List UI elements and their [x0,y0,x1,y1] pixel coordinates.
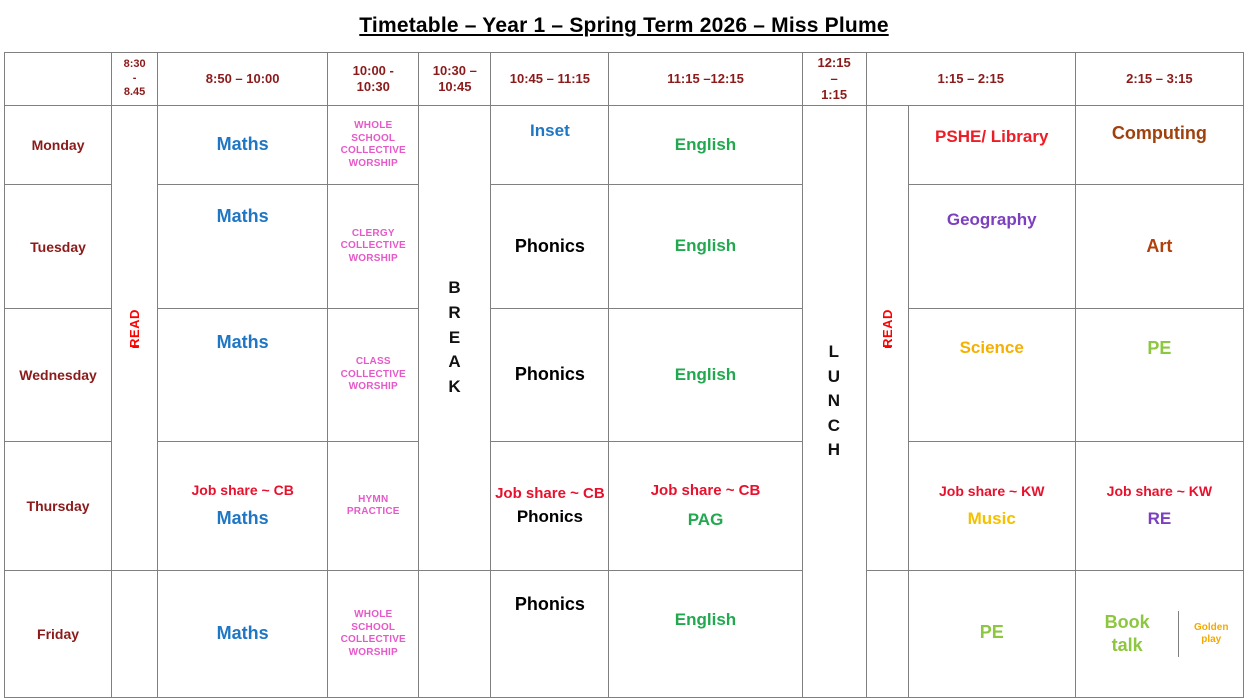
read-label: READ [880,309,895,348]
cell-monday-slot1: Maths [158,106,328,185]
page-title: Timetable – Year 1 – Spring Term 2026 – … [0,0,1248,52]
subject-label: Book [1105,612,1150,632]
read-column-pm-friday-empty [866,571,908,698]
header-corner [5,53,112,106]
cell-friday-worship: WHOLE SCHOOL COLLECTIVE WORSHIP [328,571,419,698]
cell-thursday-slot6: Job share ~ KW RE [1075,442,1243,571]
break-letter: A [419,350,490,375]
worship-line: WHOLE [328,120,418,133]
subject-label: PSHE/ Library [935,127,1048,146]
worship-line: SCHOOL [328,622,418,635]
read-column-am: READ– [112,106,158,571]
subject-label: Phonics [515,594,585,614]
cell-wednesday-slot3: Phonics [491,309,609,442]
worship-line: WORSHIP [328,647,418,660]
cell-thursday-worship: HYMN PRACTICE [328,442,419,571]
worship-line: HYMN [328,494,418,507]
subject-label: Science [960,338,1024,357]
header-slot-line: 2:15 – 3:15 [1126,71,1193,86]
subject-label: English [675,610,736,629]
cell-wednesday-slot4: English [609,309,802,442]
worship-line: COLLECTIVE [328,240,418,253]
header-slot-line: - [133,72,137,84]
header-slot-0830: 8:30 - 8.45 [112,53,158,106]
day-label-tuesday: Tuesday [5,185,112,309]
cell-friday-slot5: PE [908,571,1075,698]
table-row: Thursday Job share ~ CB Maths HYMN PRACT… [5,442,1244,571]
subject-label: English [675,236,736,255]
header-slot-line: 8:30 [124,58,146,70]
subject-label: PE [1147,338,1171,358]
header-slot-line: 11:15 –12:15 [667,71,744,86]
cell-friday-slot4: English [609,571,802,698]
cell-monday-slot4: English [609,106,802,185]
golden-play-line: Golden [1194,622,1228,633]
header-slot-1115: 11:15 –12:15 [609,53,802,106]
cell-friday-slot6: Book talk Golden play [1075,571,1243,698]
subject-label: Phonics [515,236,585,256]
subject-label: Inset [530,121,570,140]
break-column: B R E A K [419,106,491,571]
header-row: 8:30 - 8.45 8:50 – 10:00 10:00 - 10:30 1… [5,53,1244,106]
header-slot-1030: 10:30 – 10:45 [419,53,491,106]
subject-label: Phonics [517,506,583,528]
header-slot-line: 1:15 [821,87,847,102]
cell-tuesday-worship: CLERGY COLLECTIVE WORSHIP [328,185,419,309]
cell-monday-slot3: Inset [491,106,609,185]
table-row: Friday Maths WHOLE SCHOOL COLLECTIVE WOR… [5,571,1244,698]
table-row: Monday READ– Maths WHOLE SCHOOL COLLECTI… [5,106,1244,185]
cell-thursday-slot3: Job share ~ CB Phonics [491,442,609,571]
jobshare-note: Job share ~ CB [192,481,294,499]
jobshare-note: Job share ~ KW [939,482,1044,500]
header-slot-line: 10:00 - [353,63,394,78]
worship-line: CLASS [328,356,418,369]
break-letter: K [419,375,490,400]
header-slot-line: – [830,71,837,86]
worship-line: PRACTICE [328,506,418,519]
header-slot-line: 8.45 [124,86,145,98]
jobshare-note: Job share ~ KW [1107,482,1212,500]
subject-label: English [675,365,736,384]
cell-tuesday-slot6: Art [1075,185,1243,309]
timetable-table: 8:30 - 8.45 8:50 – 10:00 10:00 - 10:30 1… [4,52,1244,698]
cell-thursday-slot1: Job share ~ CB Maths [158,442,328,571]
cell-friday-slot1: Maths [158,571,328,698]
cell-monday-slot5: PSHE/ Library [908,106,1075,185]
subject-label: Computing [1112,123,1207,143]
subject-label: English [675,135,736,154]
subject-label: Maths [217,134,269,154]
jobshare-note: Job share ~ CB [651,481,761,501]
read-label: READ [127,309,142,348]
break-column-friday-empty [419,571,491,698]
break-letter: E [419,326,490,351]
header-slot-1315: 1:15 – 2:15 [866,53,1075,106]
worship-line: COLLECTIVE [328,634,418,647]
lunch-letter: C [803,414,866,439]
header-slot-line: 12:15 [817,55,850,70]
break-letter: R [419,301,490,326]
lunch-letter: L [803,340,866,365]
subject-label: Maths [217,332,269,352]
cell-monday-slot6: Computing [1075,106,1243,185]
header-slot-1045: 10:45 – 11:15 [491,53,609,106]
header-slot-1000: 10:00 - 10:30 [328,53,419,106]
golden-play-line: play [1201,634,1221,645]
cell-thursday-slot5: Job share ~ KW Music [908,442,1075,571]
subject-label: Maths [217,206,269,226]
lunch-letter: H [803,438,866,463]
header-slot-0850: 8:50 – 10:00 [158,53,328,106]
table-row: Wednesday Maths CLASS COLLECTIVE WORSHIP… [5,309,1244,442]
worship-line: COLLECTIVE [328,145,418,158]
header-slot-1215: 12:15 – 1:15 [802,53,866,106]
header-slot-line: 8:50 – 10:00 [206,71,280,86]
subject-label: PE [980,622,1004,642]
subject-label: Music [968,508,1016,530]
cell-wednesday-slot5: Science [908,309,1075,442]
worship-line: COLLECTIVE [328,369,418,382]
header-slot-line: 10:45 – 11:15 [510,71,590,86]
cell-wednesday-slot6: PE [1075,309,1243,442]
lunch-column: L U N C H [802,106,866,698]
subject-label: Maths [217,623,269,643]
lunch-letter: N [803,389,866,414]
cell-friday-book-talk: Book talk [1076,611,1180,658]
header-slot-line: 10:45 [438,79,471,94]
cell-wednesday-slot1: Maths [158,309,328,442]
subject-label: Art [1146,236,1172,256]
header-slot-line: 10:30 – [433,63,477,78]
cell-tuesday-slot1: Maths [158,185,328,309]
subject-label: Phonics [515,364,585,384]
worship-line: WORSHIP [328,381,418,394]
header-slot-line: 10:30 [357,79,390,94]
worship-line: SCHOOL [328,133,418,146]
worship-line: WORSHIP [328,253,418,266]
subject-label: PAG [688,509,724,531]
lunch-letter: U [803,365,866,390]
read-column-friday-empty [112,571,158,698]
subject-label: talk [1112,635,1143,655]
timetable-page: Timetable – Year 1 – Spring Term 2026 – … [0,0,1248,661]
subject-label: RE [1148,508,1172,530]
day-label-wednesday: Wednesday [5,309,112,442]
read-column-pm: READ– [866,106,908,571]
jobshare-note: Job share ~ CB [495,484,605,504]
cell-tuesday-slot3: Phonics [491,185,609,309]
day-label-monday: Monday [5,106,112,185]
subject-label: Geography [947,210,1037,229]
worship-line: CLERGY [328,228,418,241]
break-letter: B [419,276,490,301]
table-row: Tuesday Maths CLERGY COLLECTIVE WORSHIP … [5,185,1244,309]
cell-friday-golden-play: Golden play [1179,611,1243,658]
cell-tuesday-slot5: Geography [908,185,1075,309]
cell-monday-worship: WHOLE SCHOOL COLLECTIVE WORSHIP [328,106,419,185]
header-slot-1415: 2:15 – 3:15 [1075,53,1243,106]
header-slot-line: 1:15 – 2:15 [937,71,1004,86]
day-label-thursday: Thursday [5,442,112,571]
cell-tuesday-slot4: English [609,185,802,309]
cell-thursday-slot4: Job share ~ CB PAG [609,442,802,571]
cell-wednesday-worship: CLASS COLLECTIVE WORSHIP [328,309,419,442]
subject-label: Maths [217,507,269,530]
worship-line: WHOLE [328,609,418,622]
day-label-friday: Friday [5,571,112,698]
worship-line: WORSHIP [328,158,418,171]
cell-friday-slot3: Phonics [491,571,609,698]
